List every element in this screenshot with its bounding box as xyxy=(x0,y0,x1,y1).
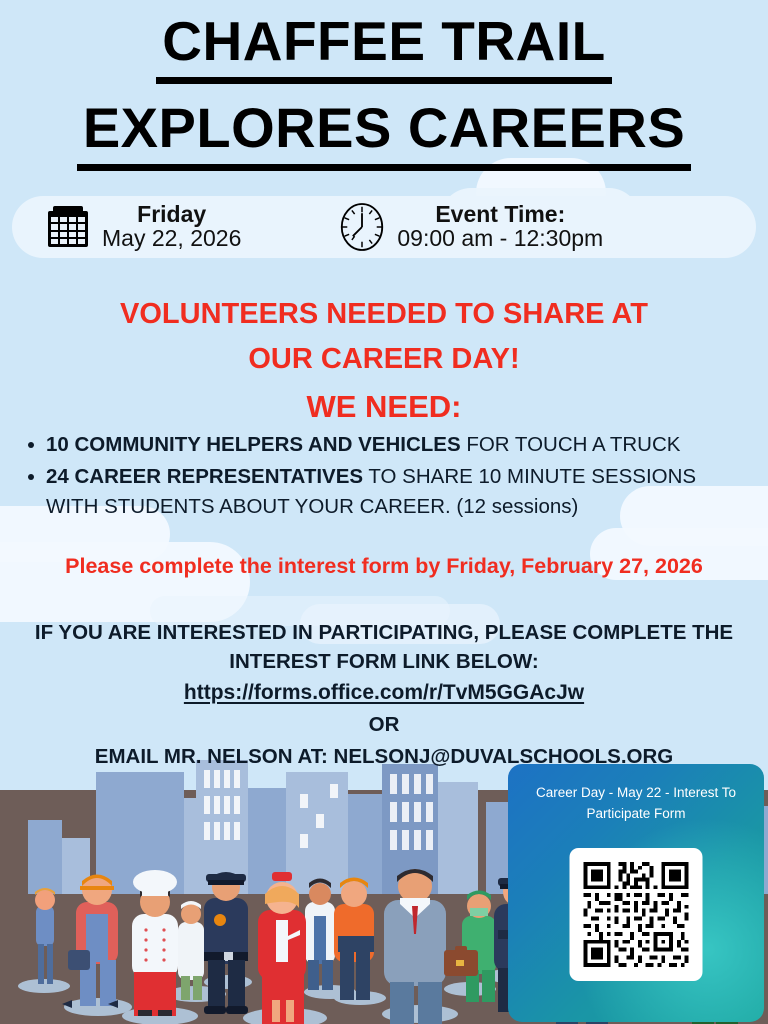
event-info-bar: Friday May 22, 2026 xyxy=(12,196,756,258)
title-line-2: EXPLORES CAREERS xyxy=(77,93,691,171)
list-item: 24 CAREER REPRESENTATIVES TO SHARE 10 MI… xyxy=(20,462,748,522)
headline-line-3: WE NEED: xyxy=(0,384,768,429)
need-rest-1: FOR TOUCH A TRUCK xyxy=(461,433,681,456)
bullet-dot-icon xyxy=(28,474,34,480)
headline-line-2: OUR CAREER DAY! xyxy=(0,337,768,382)
headline-line-1: VOLUNTEERS NEEDED TO SHARE AT xyxy=(0,292,768,337)
deadline-text: Please complete the interest form by Fri… xyxy=(0,554,768,579)
call-to-action: IF YOU ARE INTERESTED IN PARTICIPATING, … xyxy=(0,618,768,772)
figure-flight-attendant-red xyxy=(258,872,306,1024)
event-date-label: May 22, 2026 xyxy=(102,227,241,251)
figure-surgeon-green-scrubs xyxy=(462,891,496,1003)
needs-list: 10 COMMUNITY HELPERS AND VEHICLES FOR TO… xyxy=(20,430,748,524)
title-line-1: CHAFFEE TRAIL xyxy=(156,6,611,84)
clock-icon xyxy=(339,202,385,252)
need-continuation-2: WITH STUDENTS ABOUT YOUR CAREER. (12 ses… xyxy=(46,492,748,522)
cta-or: OR xyxy=(0,710,768,740)
qr-code-card[interactable]: Career Day - May 22 - Interest To Partic… xyxy=(508,764,764,1022)
bullet-dot-icon xyxy=(28,442,34,448)
list-item: 10 COMMUNITY HELPERS AND VEHICLES FOR TO… xyxy=(20,430,748,460)
poster-title: CHAFFEE TRAIL EXPLORES CAREERS xyxy=(0,6,768,171)
cta-line-2: INTEREST FORM LINK BELOW: xyxy=(0,647,768,676)
interest-form-link[interactable]: https://forms.office.com/r/TvM5GGAcJw xyxy=(184,678,584,708)
event-date-block: Friday May 22, 2026 xyxy=(46,203,241,250)
qr-code-matrix xyxy=(580,858,693,971)
calendar-icon xyxy=(46,205,90,249)
qr-code-icon[interactable] xyxy=(570,848,703,981)
need-bold-1: 10 COMMUNITY HELPERS AND VEHICLES xyxy=(46,433,461,456)
qr-caption: Career Day - May 22 - Interest To Partic… xyxy=(508,764,764,824)
event-time-range: 09:00 am - 12:30pm xyxy=(397,227,603,251)
event-day-label: Friday xyxy=(102,203,241,227)
need-bold-2: 24 CAREER REPRESENTATIVES xyxy=(46,465,363,488)
event-time-title: Event Time: xyxy=(397,203,603,227)
volunteer-headline: VOLUNTEERS NEEDED TO SHARE AT OUR CAREER… xyxy=(0,292,768,429)
need-rest-2: TO SHARE 10 MINUTE SESSIONS xyxy=(363,465,696,488)
event-time-block: Event Time: 09:00 am - 12:30pm xyxy=(339,202,603,252)
poster: CHAFFEE TRAIL EXPLORES CAREERS Friday Ma… xyxy=(0,0,768,1024)
cta-line-1: IF YOU ARE INTERESTED IN PARTICIPATING, … xyxy=(0,618,768,647)
